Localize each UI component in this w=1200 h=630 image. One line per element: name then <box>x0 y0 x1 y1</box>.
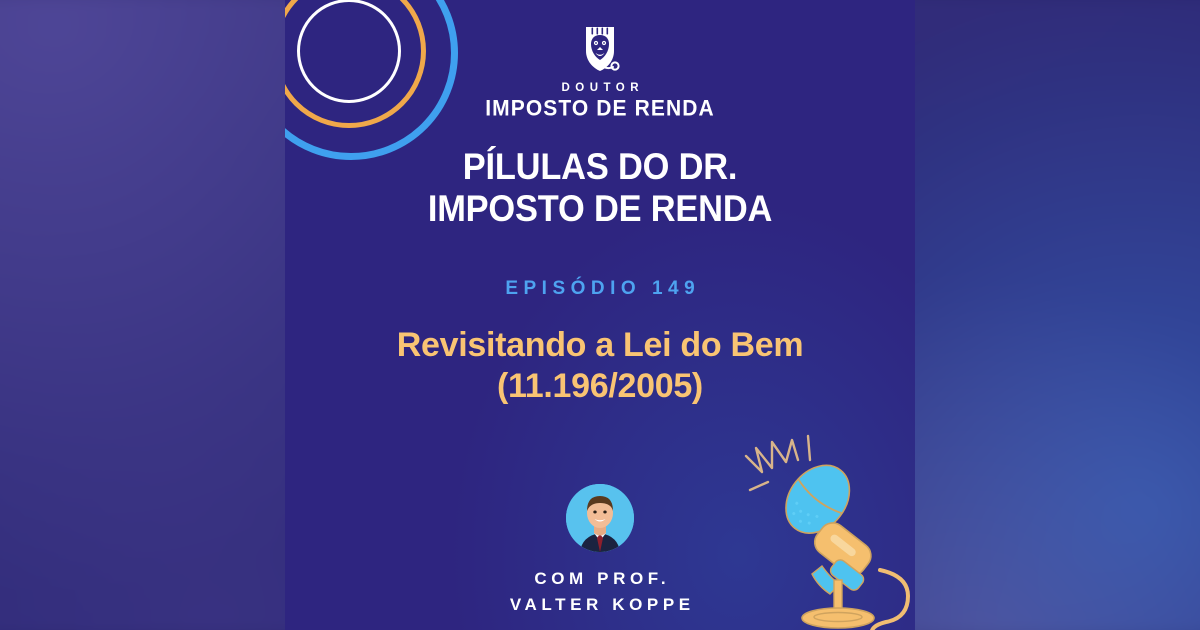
episode-title: Revisitando a Lei do Bem (11.196/2005) <box>285 325 915 408</box>
episode-title-line-2: (11.196/2005) <box>285 366 915 407</box>
podcast-cover-canvas: DOUTOR IMPOSTO DE RENDA PÍLULAS DO DR. I… <box>0 0 1200 630</box>
episode-label: EPISÓDIO 149 <box>285 278 915 300</box>
brand-name: IMPOSTO DE RENDA <box>485 97 715 119</box>
show-title: PÍLULAS DO DR. IMPOSTO DE RENDA <box>307 146 893 230</box>
cover-artwork: DOUTOR IMPOSTO DE RENDA PÍLULAS DO DR. I… <box>285 0 915 630</box>
show-title-line-2: IMPOSTO DE RENDA <box>307 188 893 230</box>
brand-logo: DOUTOR IMPOSTO DE RENDA <box>285 22 915 119</box>
avatar <box>566 484 634 552</box>
show-title-line-1: PÍLULAS DO DR. <box>307 146 893 188</box>
brand-eyebrow: DOUTOR <box>556 83 644 95</box>
lion-shield-stethoscope-icon <box>570 22 630 80</box>
episode-title-line-1: Revisitando a Lei do Bem <box>285 325 915 366</box>
microphone-on-stand-icon <box>728 428 915 630</box>
